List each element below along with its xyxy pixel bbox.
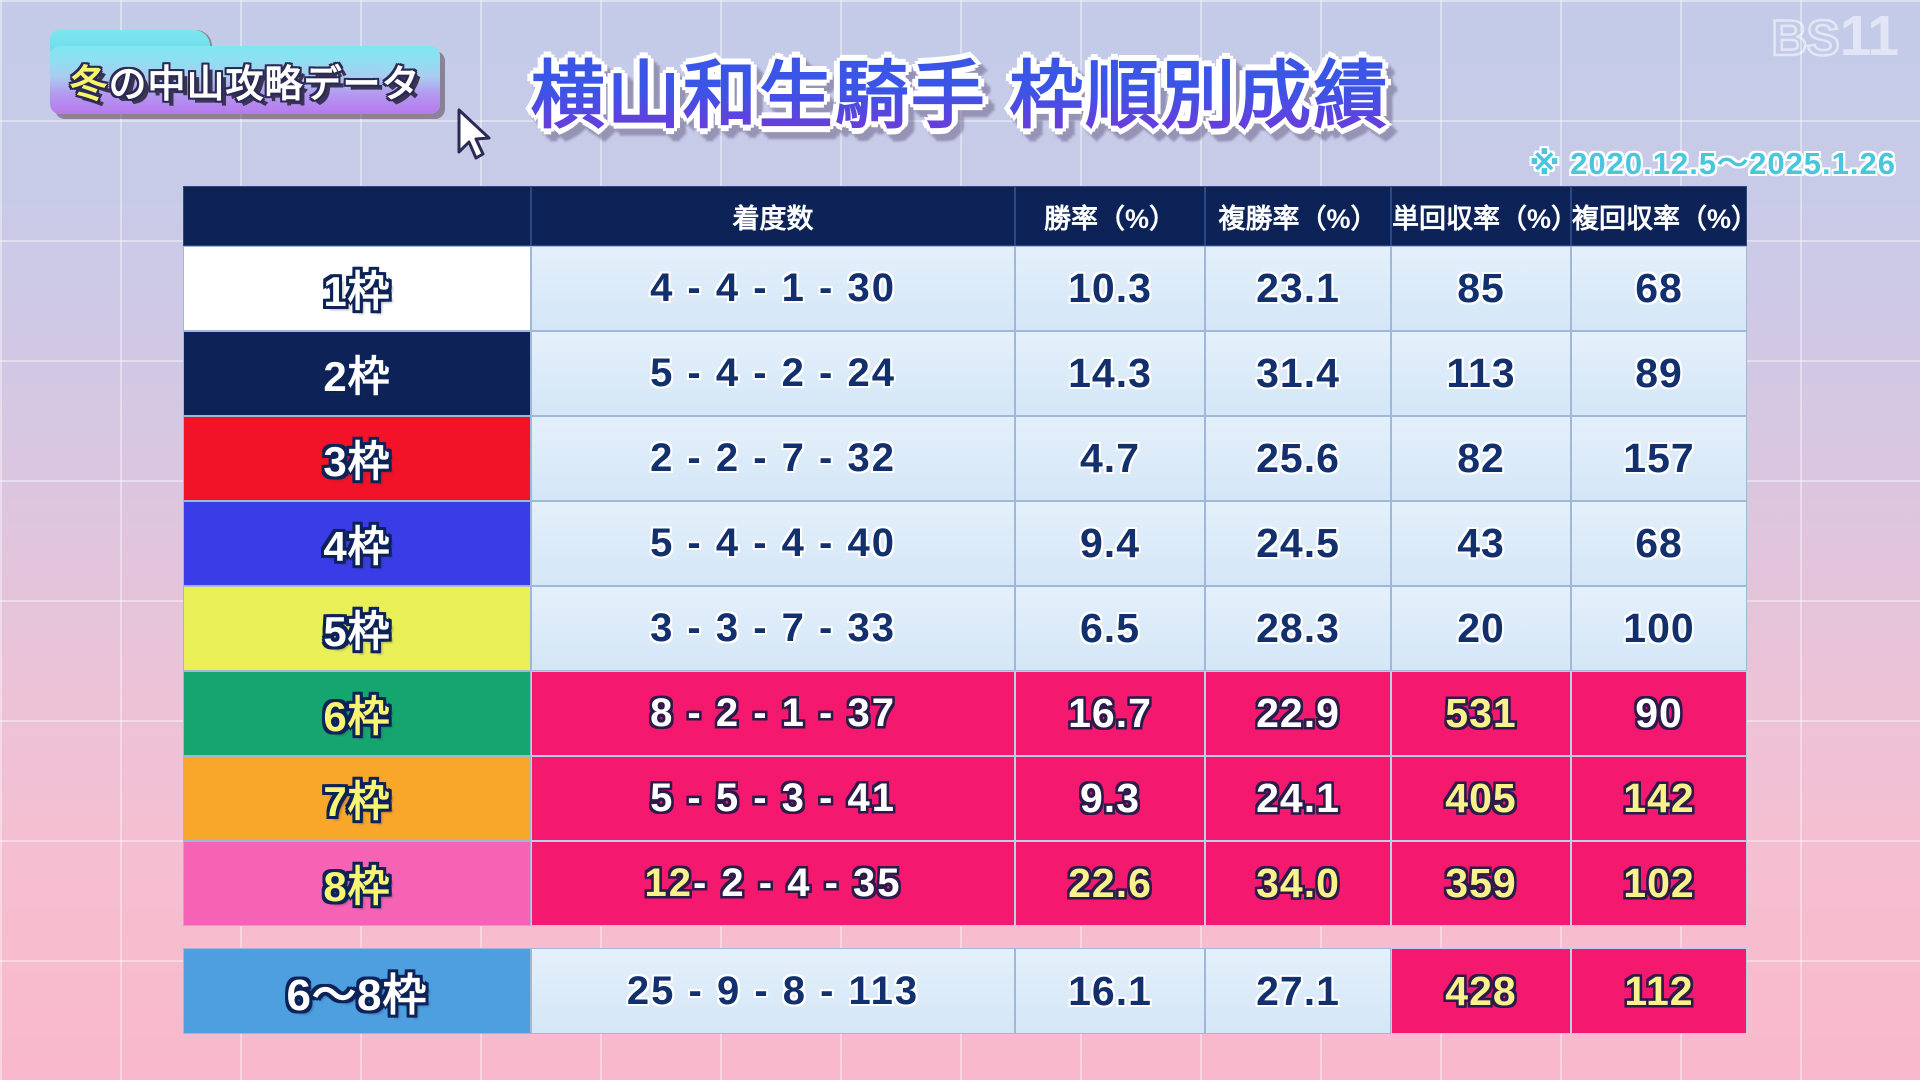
segment-badge-label-lead: 冬 bbox=[69, 64, 108, 106]
segment-badge-label-rest: の中山攻略データ bbox=[109, 64, 421, 106]
record-rest-part: - 2 - 4 - 35 bbox=[693, 861, 902, 906]
segment-badge: 冬の中山攻略データ bbox=[50, 30, 440, 116]
win-roi-cell: 85 bbox=[1391, 246, 1571, 331]
results-table: 着度数 勝率（%） 複勝率（%） 単回収率（%） 複回収率（%） 1枠4 - 4… bbox=[183, 186, 1747, 1034]
gate-label: 6枠 bbox=[323, 683, 390, 744]
win-roi-cell: 531 bbox=[1391, 671, 1571, 756]
record-cell: 5 - 4 - 4 - 40 bbox=[531, 501, 1015, 586]
gate-label-cell: 8枠 bbox=[183, 841, 531, 926]
place-rate-cell: 25.6 bbox=[1205, 416, 1391, 501]
record-cell: 8 - 2 - 1 - 37 bbox=[531, 671, 1015, 756]
date-range-note: ※ 2020.12.5～2025.1.26 bbox=[1529, 138, 1896, 183]
place-rate-cell: 24.1 bbox=[1205, 756, 1391, 841]
win-rate-cell: 10.3 bbox=[1015, 246, 1205, 331]
table-row: 5枠3 - 3 - 7 - 336.528.320100 bbox=[183, 586, 1747, 671]
record-cell: 5 - 5 - 3 - 41 bbox=[531, 756, 1015, 841]
gate-label: 4枠 bbox=[323, 513, 390, 574]
record-cell: 2 - 2 - 7 - 32 bbox=[531, 416, 1015, 501]
win-rate-cell: 6.5 bbox=[1015, 586, 1205, 671]
gate-label-cell: 5枠 bbox=[183, 586, 531, 671]
place-rate-cell: 22.9 bbox=[1205, 671, 1391, 756]
summary-gate-label-cell: 6〜8枠 bbox=[183, 948, 531, 1034]
gate-label: 2枠 bbox=[323, 343, 390, 404]
win-roi-cell: 405 bbox=[1391, 756, 1571, 841]
summary-win-rate-cell: 16.1 bbox=[1015, 948, 1205, 1034]
record-cell: 12 - 2 - 4 - 35 bbox=[531, 841, 1015, 926]
record-highlight-part: 12 bbox=[644, 861, 693, 906]
summary-place-rate-cell: 27.1 bbox=[1205, 948, 1391, 1034]
broadcast-graphic-stage: BS11 冬の中山攻略データ 横山和生騎手 枠順別成績 ※ 2020.12.5～… bbox=[0, 0, 1920, 1080]
record-cell: 3 - 3 - 7 - 33 bbox=[531, 586, 1015, 671]
place-roi-cell: 68 bbox=[1571, 501, 1747, 586]
place-roi-cell: 90 bbox=[1571, 671, 1747, 756]
column-header-gate bbox=[183, 186, 531, 246]
win-rate-cell: 16.7 bbox=[1015, 671, 1205, 756]
place-roi-cell: 157 bbox=[1571, 416, 1747, 501]
table-row: 1枠4 - 4 - 1 - 3010.323.18568 bbox=[183, 246, 1747, 331]
win-rate-cell: 9.4 bbox=[1015, 501, 1205, 586]
gate-label-cell: 1枠 bbox=[183, 246, 531, 331]
win-rate-cell: 4.7 bbox=[1015, 416, 1205, 501]
gate-label-cell: 3枠 bbox=[183, 416, 531, 501]
gate-label: 7枠 bbox=[323, 768, 390, 829]
win-rate-cell: 22.6 bbox=[1015, 841, 1205, 926]
summary-place-roi-cell: 112 bbox=[1571, 948, 1747, 1034]
record-cell: 4 - 4 - 1 - 30 bbox=[531, 246, 1015, 331]
place-roi-cell: 68 bbox=[1571, 246, 1747, 331]
place-roi-cell: 142 bbox=[1571, 756, 1747, 841]
table-body: 1枠4 - 4 - 1 - 3010.323.185682枠5 - 4 - 2 … bbox=[183, 246, 1747, 926]
table-row: 3枠2 - 2 - 7 - 324.725.682157 bbox=[183, 416, 1747, 501]
column-header-place-rate: 複勝率（%） bbox=[1205, 186, 1391, 246]
column-header-place-roi: 複回収率（%） bbox=[1571, 186, 1747, 246]
gate-label-cell: 2枠 bbox=[183, 331, 531, 416]
table-row: 8枠12 - 2 - 4 - 3522.634.0359102 bbox=[183, 841, 1747, 926]
table-row: 7枠5 - 5 - 3 - 419.324.1405142 bbox=[183, 756, 1747, 841]
segment-badge-label: 冬の中山攻略データ bbox=[69, 53, 420, 108]
place-rate-cell: 24.5 bbox=[1205, 501, 1391, 586]
bs11-logo-prefix: BS bbox=[1771, 13, 1838, 63]
column-header-win-roi: 単回収率（%） bbox=[1391, 186, 1571, 246]
place-roi-cell: 100 bbox=[1571, 586, 1747, 671]
gate-label-cell: 7枠 bbox=[183, 756, 531, 841]
gate-label: 8枠 bbox=[323, 853, 390, 914]
bs11-channel-logo: BS11 bbox=[1771, 8, 1898, 65]
summary-gate-label: 6〜8枠 bbox=[287, 959, 428, 1023]
win-rate-cell: 9.3 bbox=[1015, 756, 1205, 841]
segment-badge-body: 冬の中山攻略データ bbox=[50, 46, 440, 114]
table-summary-row: 6〜8枠 25 - 9 - 8 - 113 16.1 27.1 428 112 bbox=[183, 948, 1747, 1034]
record-cell: 5 - 4 - 2 - 24 bbox=[531, 331, 1015, 416]
table-header-row: 着度数 勝率（%） 複勝率（%） 単回収率（%） 複回収率（%） bbox=[183, 186, 1747, 246]
column-header-record: 着度数 bbox=[531, 186, 1015, 246]
gate-label: 5枠 bbox=[323, 598, 390, 659]
bs11-logo-number: 11 bbox=[1840, 8, 1898, 65]
win-roi-cell: 43 bbox=[1391, 501, 1571, 586]
summary-win-roi-cell: 428 bbox=[1391, 948, 1571, 1034]
mouse-cursor-icon bbox=[455, 108, 495, 162]
place-rate-cell: 34.0 bbox=[1205, 841, 1391, 926]
place-rate-cell: 23.1 bbox=[1205, 246, 1391, 331]
table-row: 4枠5 - 4 - 4 - 409.424.54368 bbox=[183, 501, 1747, 586]
place-roi-cell: 102 bbox=[1571, 841, 1747, 926]
gate-label: 1枠 bbox=[323, 258, 390, 319]
win-roi-cell: 20 bbox=[1391, 586, 1571, 671]
column-header-win-rate: 勝率（%） bbox=[1015, 186, 1205, 246]
summary-record-cell: 25 - 9 - 8 - 113 bbox=[531, 948, 1015, 1034]
gate-label-cell: 6枠 bbox=[183, 671, 531, 756]
win-roi-cell: 82 bbox=[1391, 416, 1571, 501]
place-roi-cell: 89 bbox=[1571, 331, 1747, 416]
table-row: 2枠5 - 4 - 2 - 2414.331.411389 bbox=[183, 331, 1747, 416]
gate-label-cell: 4枠 bbox=[183, 501, 531, 586]
win-roi-cell: 113 bbox=[1391, 331, 1571, 416]
place-rate-cell: 28.3 bbox=[1205, 586, 1391, 671]
win-roi-cell: 359 bbox=[1391, 841, 1571, 926]
win-rate-cell: 14.3 bbox=[1015, 331, 1205, 416]
place-rate-cell: 31.4 bbox=[1205, 331, 1391, 416]
table-row: 6枠8 - 2 - 1 - 3716.722.953190 bbox=[183, 671, 1747, 756]
gate-label: 3枠 bbox=[323, 428, 390, 489]
